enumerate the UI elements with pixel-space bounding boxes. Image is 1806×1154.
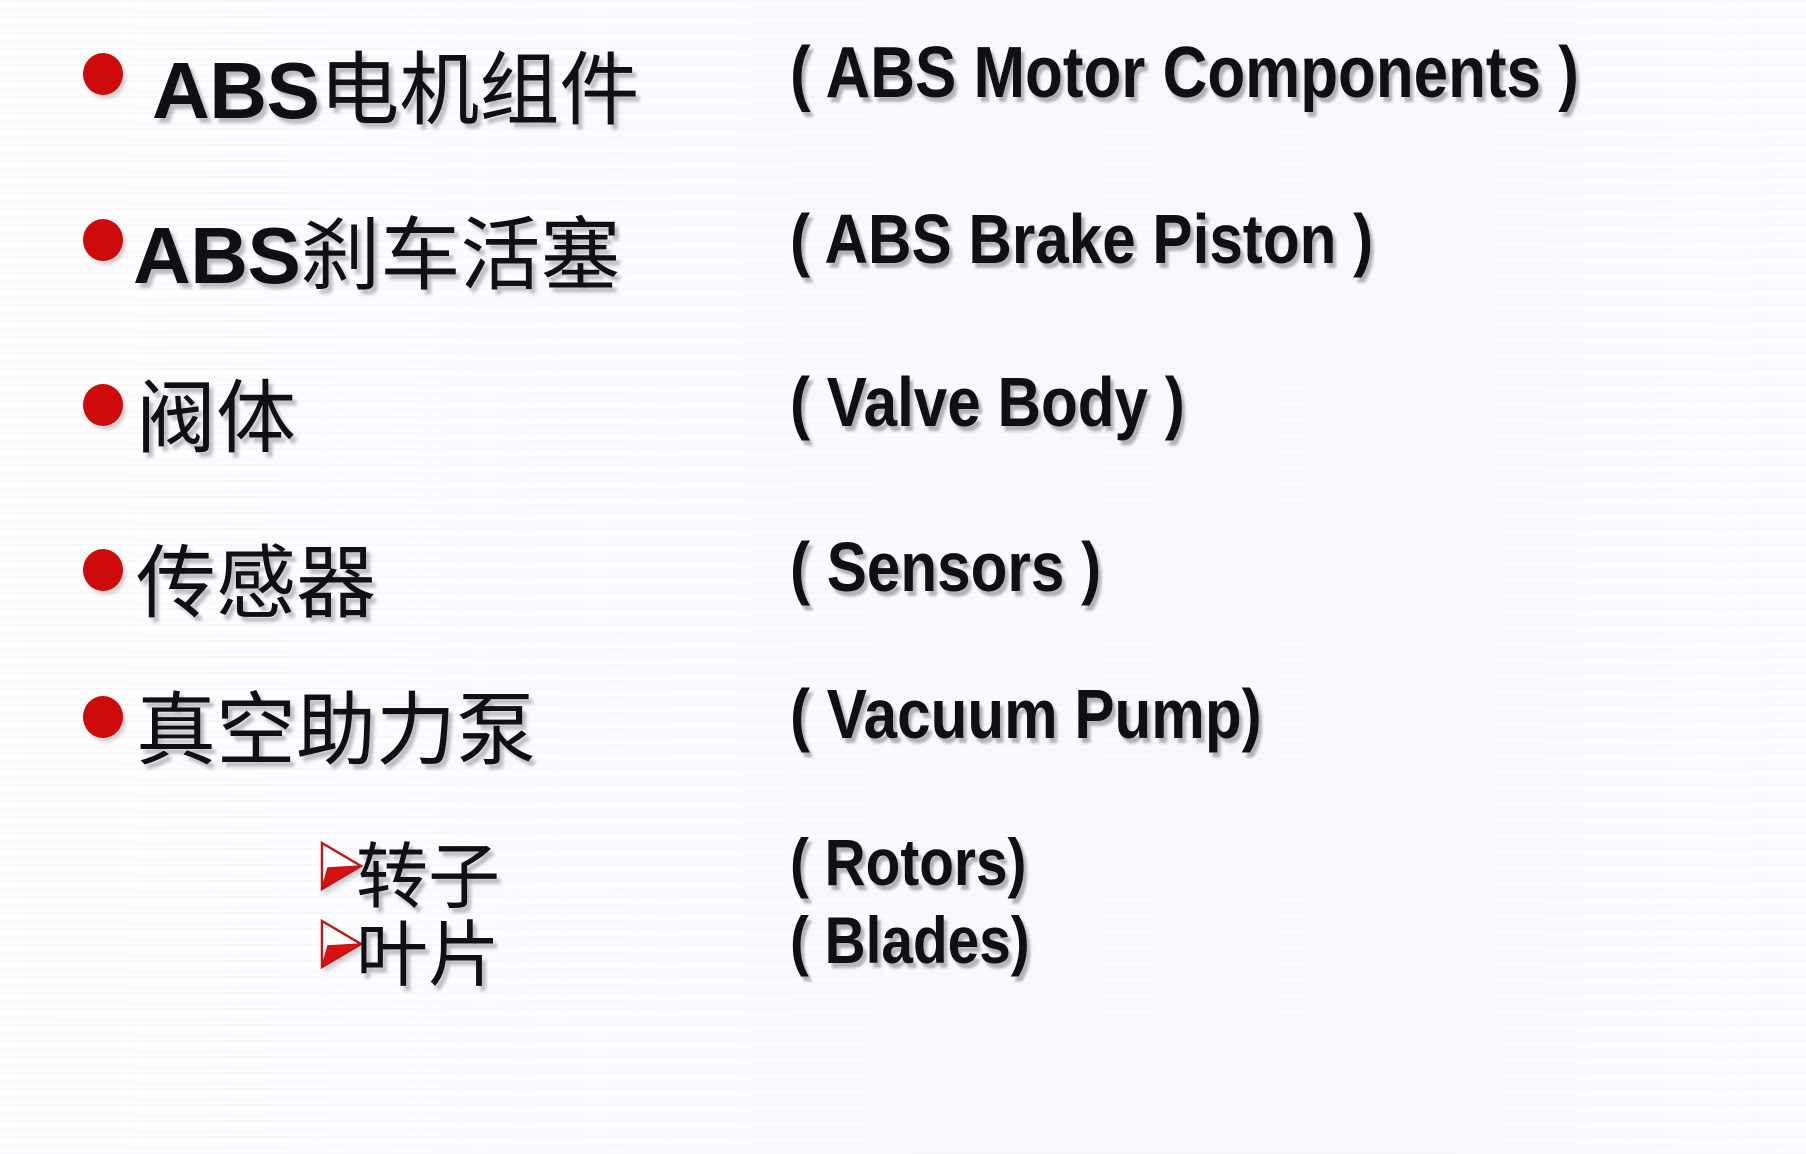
item-label-han-run: 叶片 [356, 913, 500, 997]
item-label-han-run: 阀体 [136, 372, 296, 465]
item-label-english: ( ABS Motor Components ) [790, 32, 1579, 114]
item-label-han-run: 电机组件 [319, 44, 639, 137]
item-label-han-run: 真空助力泵 [136, 684, 536, 777]
item-label-chinese: 阀体 [136, 354, 296, 470]
item-label-english: ( ABS Brake Piston ) [790, 199, 1373, 279]
item-label-chinese: 真空助力泵 [136, 666, 536, 782]
item-label-han-run: 刹车活塞 [300, 209, 620, 302]
red-disc-bullet-icon [83, 53, 123, 95]
item-label-han-run: 传感器 [136, 537, 376, 630]
item-label-english: ( Blades) [790, 902, 1030, 978]
item-label-chinese: 叶片 [356, 896, 500, 1001]
item-label-english: ( Rotors) [790, 824, 1026, 900]
item-label-chinese: 传感器 [136, 519, 376, 635]
item-label-latin-run: ABS [152, 46, 319, 135]
item-label-latin-run: ABS [133, 211, 300, 300]
red-disc-bullet-icon [83, 219, 123, 261]
item-label-english: ( Valve Body ) [790, 362, 1185, 442]
slide-canvas: ABS电机组件 ( ABS Motor Components ) ABS刹车活塞… [0, 0, 1806, 1154]
red-disc-bullet-icon [83, 696, 123, 738]
red-disc-bullet-icon [83, 549, 123, 591]
item-label-chinese: ABS电机组件 [152, 26, 639, 142]
item-label-english: ( Sensors ) [790, 527, 1101, 607]
item-label-english: ( Vacuum Pump) [790, 674, 1262, 754]
red-disc-bullet-icon [83, 384, 123, 426]
item-label-chinese: ABS刹车活塞 [133, 191, 620, 307]
